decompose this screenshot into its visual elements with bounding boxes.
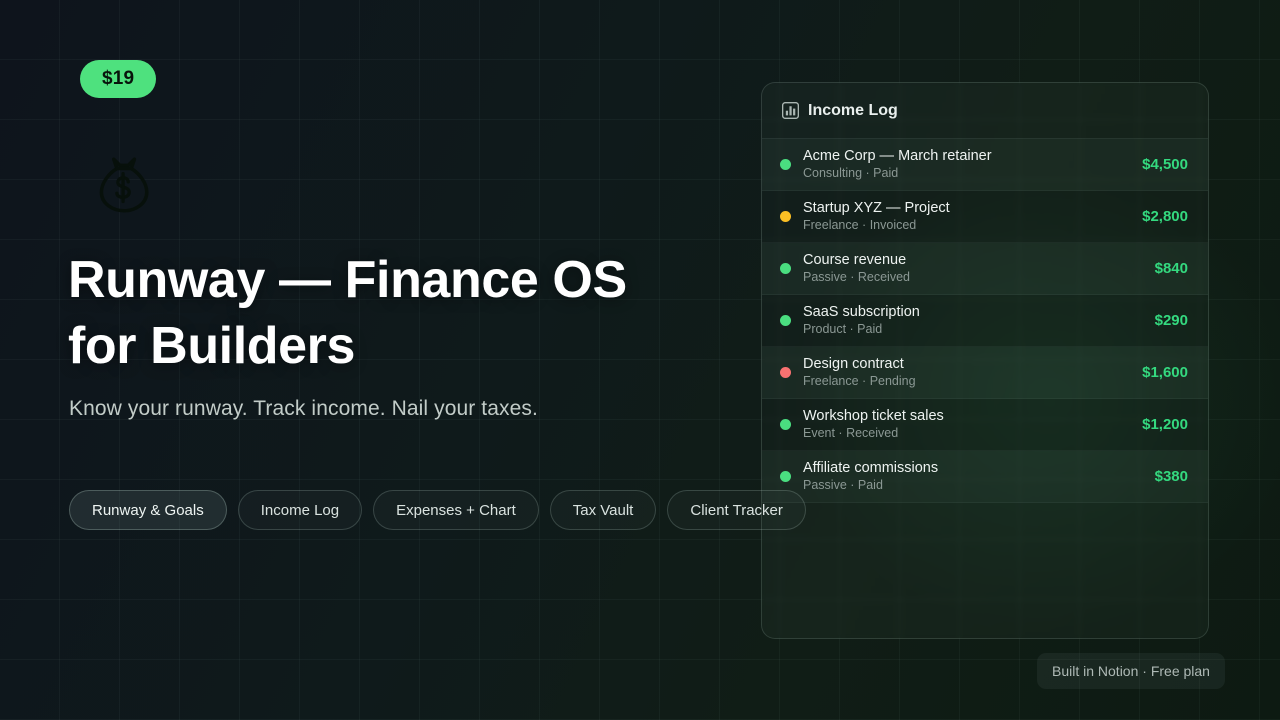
status-dot-green xyxy=(780,315,791,326)
income-log-card-header: Income Log xyxy=(762,83,1208,139)
income-row-text: Affiliate commissionsPassive · Paid xyxy=(803,460,1141,493)
feature-pill-1[interactable]: Income Log xyxy=(238,490,362,530)
income-row-title: Workshop ticket sales xyxy=(803,408,1128,425)
feature-pill-2[interactable]: Expenses + Chart xyxy=(373,490,539,530)
money-bag-icon xyxy=(88,152,154,218)
income-row-text: Course revenuePassive · Received xyxy=(803,252,1141,285)
status-dot-green xyxy=(780,159,791,170)
feature-pill-label: Runway & Goals xyxy=(92,502,204,519)
price-badge[interactable]: $19 xyxy=(80,60,156,98)
income-row-subtitle: Freelance · Invoiced xyxy=(803,218,1128,233)
income-row-amount: $1,200 xyxy=(1142,416,1188,433)
landing-page-canvas: $19 Runway — Finance OS for Builders Kno… xyxy=(0,0,1280,720)
income-row-title: Course revenue xyxy=(803,252,1141,269)
income-row[interactable]: Acme Corp — March retainerConsulting · P… xyxy=(762,139,1208,191)
income-row-subtitle: Event · Received xyxy=(803,426,1128,441)
income-row-title: Affiliate commissions xyxy=(803,460,1141,477)
income-row-title: Acme Corp — March retainer xyxy=(803,148,1128,165)
status-dot-green xyxy=(780,263,791,274)
income-row-text: Acme Corp — March retainerConsulting · P… xyxy=(803,148,1128,181)
feature-pill-label: Income Log xyxy=(261,502,339,519)
income-row[interactable]: Startup XYZ — ProjectFreelance · Invoice… xyxy=(762,191,1208,243)
headline-line-1: Runway — Finance OS xyxy=(68,251,627,309)
feature-pill-0[interactable]: Runway & Goals xyxy=(69,490,227,530)
income-log-card: Income Log Acme Corp — March retainerCon… xyxy=(761,82,1209,639)
income-row-subtitle: Freelance · Pending xyxy=(803,374,1128,389)
status-dot-green xyxy=(780,471,791,482)
income-row-amount: $4,500 xyxy=(1142,156,1188,173)
income-row-amount: $1,600 xyxy=(1142,364,1188,381)
page-subtitle: Know your runway. Track income. Nail you… xyxy=(69,397,538,421)
income-row[interactable]: Affiliate commissionsPassive · Paid$380 xyxy=(762,451,1208,503)
feature-pill-label: Tax Vault xyxy=(573,502,634,519)
income-row-text: SaaS subscriptionProduct · Paid xyxy=(803,304,1141,337)
income-log-row-list: Acme Corp — March retainerConsulting · P… xyxy=(762,139,1208,503)
income-row-text: Design contractFreelance · Pending xyxy=(803,356,1128,389)
income-row-title: Startup XYZ — Project xyxy=(803,200,1128,217)
income-row-amount: $840 xyxy=(1155,260,1188,277)
income-row-title: SaaS subscription xyxy=(803,304,1141,321)
income-row-text: Workshop ticket salesEvent · Received xyxy=(803,408,1128,441)
feature-pill-4[interactable]: Client Tracker xyxy=(667,490,806,530)
income-row-amount: $2,800 xyxy=(1142,208,1188,225)
income-row-amount: $290 xyxy=(1155,312,1188,329)
income-row-subtitle: Consulting · Paid xyxy=(803,166,1128,181)
income-row-title: Design contract xyxy=(803,356,1128,373)
income-row-subtitle: Passive · Received xyxy=(803,270,1141,285)
income-log-card-title: Income Log xyxy=(808,102,898,120)
income-row[interactable]: Workshop ticket salesEvent · Received$1,… xyxy=(762,399,1208,451)
feature-pill-3[interactable]: Tax Vault xyxy=(550,490,657,530)
status-dot-amber xyxy=(780,211,791,222)
footer-badge-label: Built in Notion · Free plan xyxy=(1052,663,1210,679)
income-row[interactable]: Course revenuePassive · Received$840 xyxy=(762,243,1208,295)
income-row-amount: $380 xyxy=(1155,468,1188,485)
income-row-subtitle: Passive · Paid xyxy=(803,478,1141,493)
price-badge-label: $19 xyxy=(102,68,134,90)
feature-pill-row: Runway & GoalsIncome LogExpenses + Chart… xyxy=(69,490,806,530)
feature-pill-label: Client Tracker xyxy=(690,502,783,519)
income-row[interactable]: SaaS subscriptionProduct · Paid$290 xyxy=(762,295,1208,347)
status-dot-red xyxy=(780,367,791,378)
bar-chart-icon xyxy=(782,102,799,119)
footer-badge: Built in Notion · Free plan xyxy=(1037,653,1225,689)
income-row[interactable]: Design contractFreelance · Pending$1,600 xyxy=(762,347,1208,399)
income-row-text: Startup XYZ — ProjectFreelance · Invoice… xyxy=(803,200,1128,233)
headline-line-2: for Builders xyxy=(68,317,355,375)
income-row-subtitle: Product · Paid xyxy=(803,322,1141,337)
feature-pill-label: Expenses + Chart xyxy=(396,502,516,519)
page-title: Runway — Finance OS for Builders xyxy=(68,248,748,379)
status-dot-green xyxy=(780,419,791,430)
